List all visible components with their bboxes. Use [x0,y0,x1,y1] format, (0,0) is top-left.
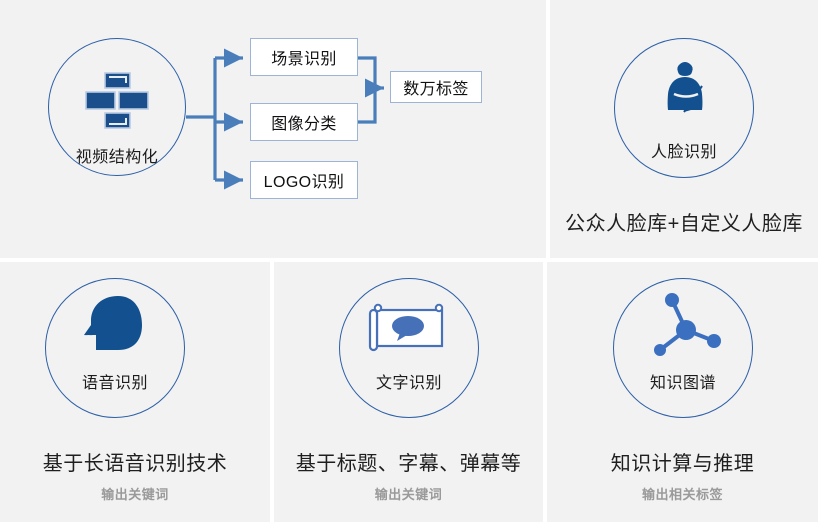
circle-label-video: 视频结构化 [48,143,186,167]
panel-speech-recognition: 语音识别 基于长语音识别技术 输出关键词 [0,262,270,522]
flow-node-image-label: 图像分类 [271,110,337,134]
flow-node-logo-label: LOGO识别 [264,168,345,192]
knowledge-graph-nodes-icon [640,292,730,366]
flow-node-image[interactable]: 图像分类 [250,103,358,141]
caption-text: 基于标题、字幕、弹幕等 [274,447,543,476]
circle-label-text: 文字识别 [339,369,479,393]
caption-face: 公众人脸库+自定义人脸库 [550,207,818,236]
flow-node-tags[interactable]: 数万标签 [390,71,482,103]
face-recognition-icon [658,60,712,120]
subcaption-graph: 输出相关标签 [547,484,818,503]
panel-text-recognition: 文字识别 基于标题、字幕、弹幕等 输出关键词 [274,262,543,522]
flow-node-scene-label: 场景识别 [271,45,337,69]
flow-node-tags-label: 数万标签 [403,75,469,99]
flow-node-scene[interactable]: 场景识别 [250,38,358,76]
subcaption-text: 输出关键词 [274,484,543,503]
caption-graph: 知识计算与推理 [547,447,818,476]
panel-face-recognition: 人脸识别 公众人脸库+自定义人脸库 [550,0,818,258]
banner-speech-bubble-icon [364,302,454,356]
subcaption-speech: 输出关键词 [0,484,270,503]
speech-head-icon [82,295,148,355]
panel-knowledge-graph: 知识图谱 知识计算与推理 输出相关标签 [547,262,818,522]
panel-video-structuring: 视频结构化 场景识别 图像分类 LOGO识别 数万标签 [0,0,546,258]
circle-label-graph: 知识图谱 [613,369,753,393]
video-structuring-icon [85,72,149,130]
flow-node-logo[interactable]: LOGO识别 [250,161,358,199]
circle-label-face: 人脸识别 [614,138,754,162]
caption-speech: 基于长语音识别技术 [0,447,270,476]
infographic-root: 视频结构化 场景识别 图像分类 LOGO识别 数万标签 人脸识别 公众人脸库+自 [0,0,818,522]
circle-label-speech: 语音识别 [45,369,185,393]
